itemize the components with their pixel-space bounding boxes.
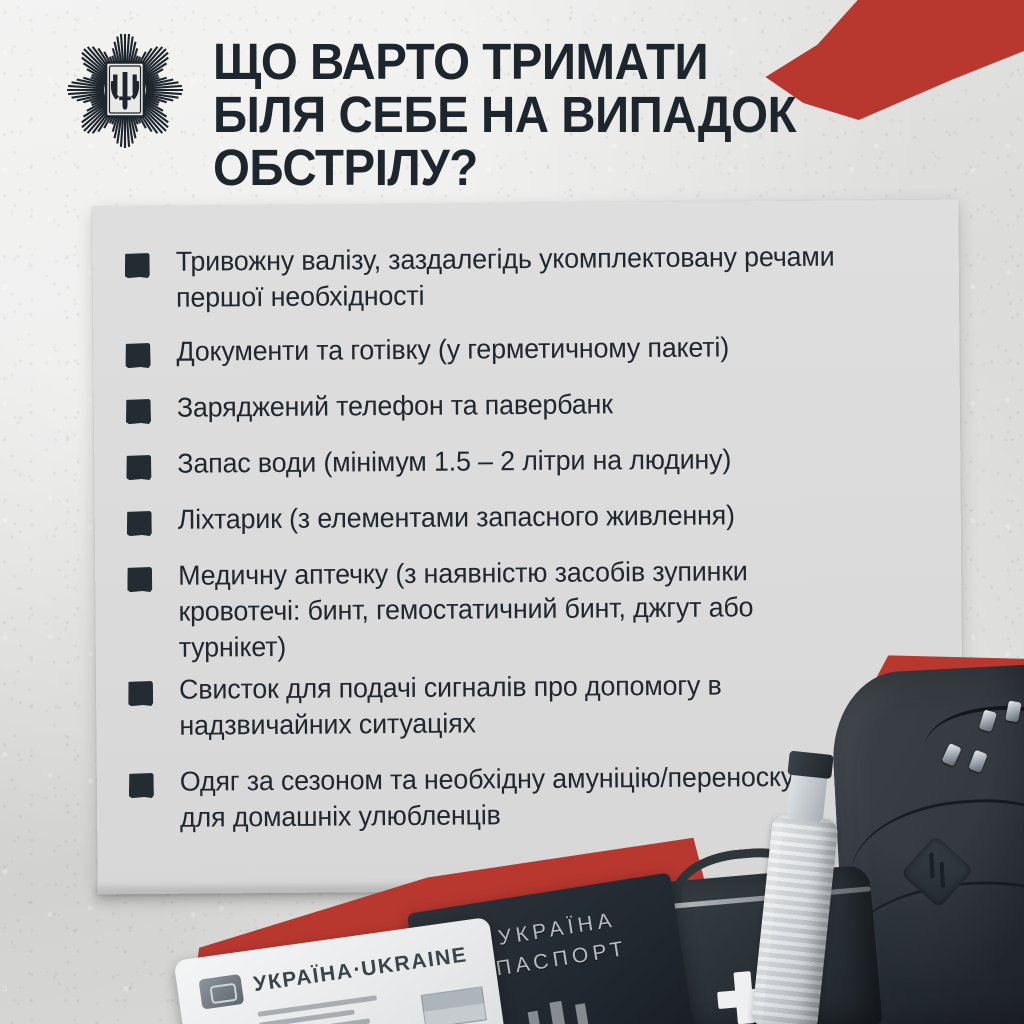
infographic-canvas: ЩО ВАРТО ТРИМАТИ БІЛЯ СЕБЕ НА ВИПАДОК ОБ… xyxy=(0,0,1024,1024)
checklist-item: Ліхтарик (з елементами запасного живленн… xyxy=(127,496,907,538)
checklist-item-label: Запас води (мінімум 1.5 – 2 літри на люд… xyxy=(177,440,860,481)
page-title: ЩО ВАРТО ТРИМАТИ БІЛЯ СЕБЕ НА ВИПАДОК ОБ… xyxy=(213,36,901,194)
checklist-item: Тривожну валізу, заздалегідь укомплектов… xyxy=(125,238,886,315)
id-card-chip xyxy=(198,974,244,1010)
checklist-item-label: Документи та готівку (у герметичному пак… xyxy=(176,328,917,370)
checklist-item: Документи та готівку (у герметичному пак… xyxy=(125,328,945,370)
checklist-item-label: Ліхтарик (з елементами запасного живленн… xyxy=(178,496,880,537)
bullet-square-icon xyxy=(127,567,152,592)
bullet-square-icon xyxy=(126,399,151,424)
ukraine-national-police-emblem-icon xyxy=(66,34,184,152)
checklist-item-label: Тривожну валізу, заздалегідь укомплектов… xyxy=(176,238,859,315)
id-card-flag xyxy=(421,986,487,1024)
checklist-item-label: Заряджений телефон та павербанк xyxy=(177,384,860,425)
bottle-cap xyxy=(787,751,833,779)
id-card-title: УКРАЇНА‧UKRAINE xyxy=(252,942,469,997)
bullet-square-icon xyxy=(127,511,152,536)
bullet-square-icon xyxy=(125,253,150,278)
bullet-square-icon xyxy=(125,343,150,368)
title-line-1: ЩО ВАРТО ТРИМАТИ xyxy=(213,36,901,89)
tryzub-icon xyxy=(518,990,605,1024)
bottle-neck xyxy=(787,771,828,823)
photo-collage: УКРАЇНА ПАСПОРТ xyxy=(0,620,1024,1024)
checklist-item: Заряджений телефон та павербанк xyxy=(126,384,886,426)
id-card-text-lines xyxy=(258,995,381,1024)
header: ЩО ВАРТО ТРИМАТИ БІЛЯ СЕБЕ НА ВИПАДОК ОБ… xyxy=(0,0,1024,203)
checklist-item: Запас води (мінімум 1.5 – 2 літри на люд… xyxy=(126,440,886,482)
title-line-3: ОБСТРІЛУ? xyxy=(213,142,901,195)
title-line-2: БІЛЯ СЕБЕ НА ВИПАДОК xyxy=(213,89,901,142)
bullet-square-icon xyxy=(126,455,151,480)
